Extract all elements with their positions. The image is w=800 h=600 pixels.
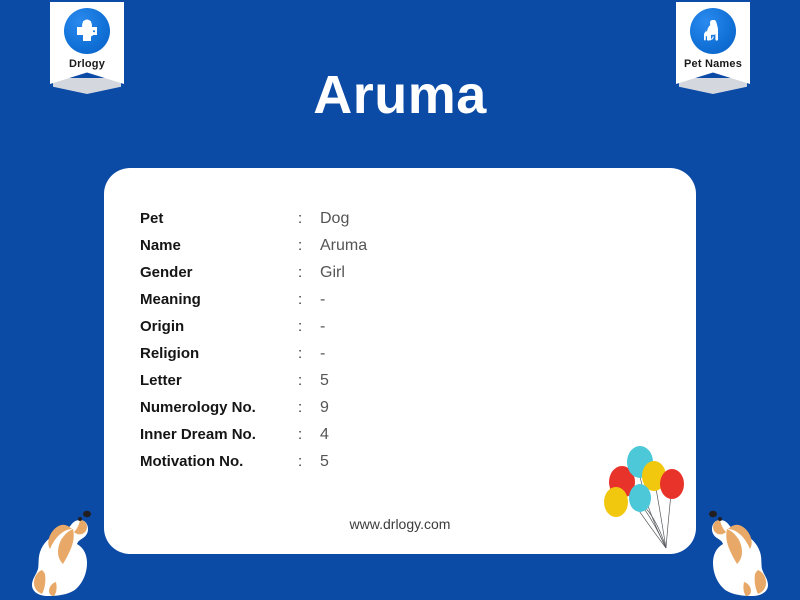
row-separator: : bbox=[298, 237, 320, 254]
table-row: Motivation No. : 5 bbox=[140, 453, 367, 480]
row-separator: : bbox=[298, 210, 320, 227]
row-separator: : bbox=[298, 399, 320, 416]
row-label: Meaning bbox=[140, 291, 298, 308]
row-separator: : bbox=[298, 426, 320, 443]
row-separator: : bbox=[298, 318, 320, 335]
row-label: Gender bbox=[140, 264, 298, 281]
table-row: Name : Aruma bbox=[140, 237, 367, 264]
table-row: Origin : - bbox=[140, 318, 367, 345]
sitting-dog-illustration-left bbox=[18, 492, 130, 600]
dog-cat-icon bbox=[690, 8, 736, 54]
row-label: Motivation No. bbox=[140, 453, 298, 470]
row-value: - bbox=[320, 291, 325, 309]
row-label: Inner Dream No. bbox=[140, 426, 298, 443]
table-row: Numerology No. : 9 bbox=[140, 399, 367, 426]
row-value: Girl bbox=[320, 264, 345, 282]
drlogy-medical-cross-icon bbox=[64, 8, 110, 54]
table-row: Inner Dream No. : 4 bbox=[140, 426, 367, 453]
row-value: 5 bbox=[320, 453, 329, 471]
row-label: Letter bbox=[140, 372, 298, 389]
table-row: Letter : 5 bbox=[140, 372, 367, 399]
row-label: Religion bbox=[140, 345, 298, 362]
row-label: Origin bbox=[140, 318, 298, 335]
details-card: Pet : Dog Name : Aruma Gender : Girl Mea… bbox=[104, 168, 696, 554]
row-separator: : bbox=[298, 345, 320, 362]
row-separator: : bbox=[298, 453, 320, 470]
details-table: Pet : Dog Name : Aruma Gender : Girl Mea… bbox=[140, 210, 367, 480]
page-title: Aruma bbox=[0, 64, 800, 126]
row-separator: : bbox=[298, 291, 320, 308]
sitting-dog-illustration-right bbox=[670, 492, 782, 600]
row-value: 4 bbox=[320, 426, 329, 444]
row-value: 9 bbox=[320, 399, 329, 417]
row-value: - bbox=[320, 318, 325, 336]
row-value: Dog bbox=[320, 210, 349, 228]
table-row: Pet : Dog bbox=[140, 210, 367, 237]
row-value: - bbox=[320, 345, 325, 363]
row-value: Aruma bbox=[320, 237, 367, 255]
row-label: Numerology No. bbox=[140, 399, 298, 416]
pet-name-card-page: Drlogy Pet Names Aruma bbox=[0, 0, 800, 600]
table-row: Meaning : - bbox=[140, 291, 367, 318]
row-separator: : bbox=[298, 372, 320, 389]
row-separator: : bbox=[298, 264, 320, 281]
footer-url: www.drlogy.com bbox=[104, 516, 696, 532]
row-value: 5 bbox=[320, 372, 329, 390]
table-row: Gender : Girl bbox=[140, 264, 367, 291]
row-label: Pet bbox=[140, 210, 298, 227]
table-row: Religion : - bbox=[140, 345, 367, 372]
row-label: Name bbox=[140, 237, 298, 254]
